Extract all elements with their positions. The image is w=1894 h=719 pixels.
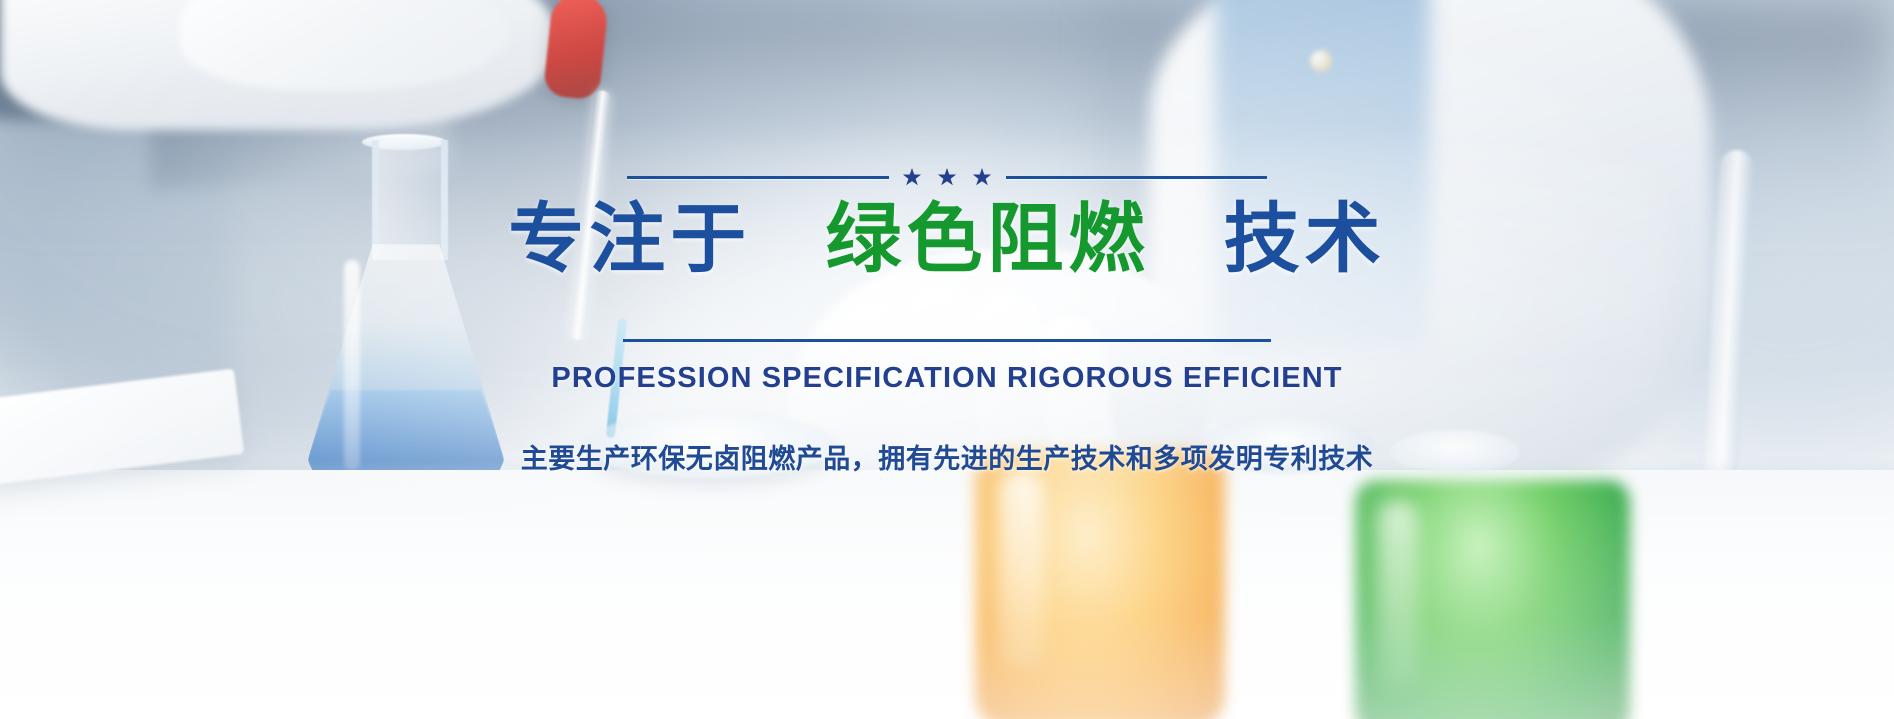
- headline: 专注于 绿色阻燃 技术: [508, 201, 1386, 279]
- description: 主要生产环保无卤阻燃产品，拥有先进的生产技术和多项发明专利技术: [521, 437, 1374, 476]
- banner-content: 专注于 绿色阻燃 技术 PROFESSION SPECIFICATION RIG…: [0, 0, 1894, 719]
- headline-part-1: 专注于: [508, 197, 751, 282]
- star-icon: [973, 168, 992, 187]
- star-group: [903, 168, 992, 187]
- headline-part-2: 绿色阻燃: [826, 197, 1150, 282]
- headline-part-3: 技术: [1224, 197, 1386, 282]
- divider-line-left: [627, 176, 889, 179]
- star-icon: [903, 168, 922, 187]
- divider-line-right: [1006, 176, 1268, 179]
- hero-banner: 专注于 绿色阻燃 技术 PROFESSION SPECIFICATION RIG…: [0, 0, 1894, 719]
- bottom-divider-line: [623, 339, 1271, 342]
- top-divider-with-stars: [627, 168, 1267, 187]
- subtitle: PROFESSION SPECIFICATION RIGOROUS EFFICI…: [551, 362, 1342, 395]
- star-icon: [938, 168, 957, 187]
